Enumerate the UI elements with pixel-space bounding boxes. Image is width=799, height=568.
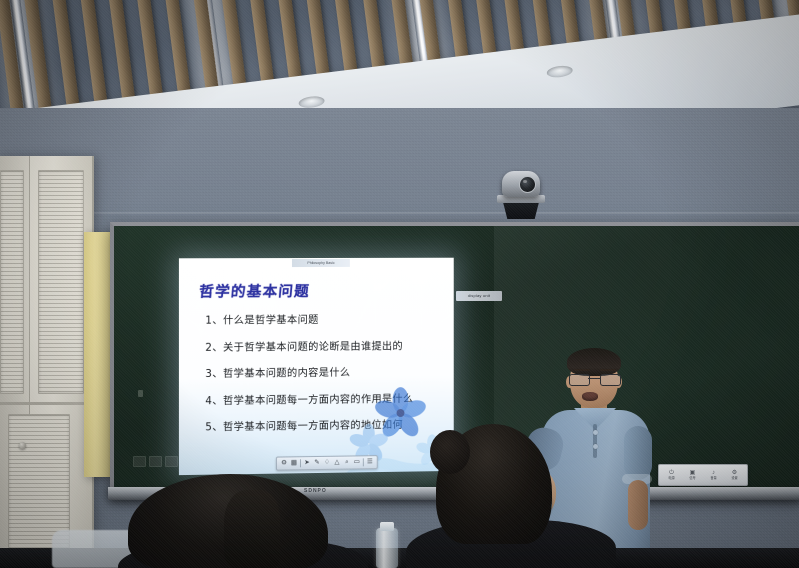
presenter-hair <box>567 348 621 376</box>
presenter-forearm <box>628 480 648 530</box>
screen-icon[interactable]: ▭ <box>353 457 361 467</box>
student-left-hair-strand <box>224 490 280 568</box>
bezel-button[interactable] <box>165 456 178 467</box>
menu-icon[interactable]: ☰ <box>366 457 374 467</box>
toolbar-separator <box>363 458 364 466</box>
slide-bullet-5: 5、哲学基本问题每一方面内容的地位如何 <box>205 415 453 433</box>
bottle-cap <box>380 522 394 531</box>
slideshow-icon[interactable]: ▦ <box>290 458 298 468</box>
volume-button[interactable]: ♪ 音量 <box>708 469 719 481</box>
eyeglasses-icon <box>569 374 619 384</box>
glasses-lens <box>600 374 621 386</box>
slide-bullet-3: 3、哲学基本问题的内容是什么 <box>205 363 453 380</box>
board-control-panel[interactable]: ⏻ 电源 ▣ 信号 ♪ 音量 ⚙ 设置 <box>658 464 748 486</box>
volume-label: 音量 <box>710 476 716 480</box>
presentation-toolbar[interactable]: ⚙ ▦ ➤ ✎ ♢ △ ⌕ ▭ ☰ <box>276 455 378 470</box>
settings-button[interactable]: ⚙ 设置 <box>729 469 740 481</box>
power-button[interactable]: ⏻ 电源 <box>666 469 677 481</box>
pointer-icon[interactable]: ➤ <box>303 458 311 468</box>
water-bottle <box>376 528 398 568</box>
glasses-bridge <box>588 378 600 379</box>
slide-title: 哲学的基本问题 <box>198 280 311 302</box>
board-bezel-buttons[interactable] <box>133 456 178 467</box>
classroom-photo: display unit ⏻ 电源 ▣ 信号 ♪ 音量 ⚙ 设置 Philoso… <box>0 0 799 568</box>
cabinet-louver-vent <box>0 170 24 394</box>
options-icon[interactable]: ⚙ <box>280 458 288 468</box>
glasses-lens <box>569 374 590 386</box>
camera-body <box>502 171 540 197</box>
student-right <box>424 424 574 568</box>
presenter-eyebrow <box>600 369 616 371</box>
ptz-conference-camera <box>497 171 545 219</box>
shirt-button <box>593 444 598 449</box>
student-right-hair-bun <box>430 430 470 474</box>
slide-bullet-1: 1、什么是哲学基本问题 <box>205 310 453 326</box>
power-label: 电源 <box>668 476 674 480</box>
board-indicator-light <box>138 390 143 397</box>
recessed-downlight <box>546 65 573 79</box>
source-label: 信号 <box>689 476 695 480</box>
source-button[interactable]: ▣ 信号 <box>687 469 698 481</box>
cabinet-louver-vent <box>38 170 84 394</box>
recessed-downlight <box>298 95 325 109</box>
shirt-button <box>593 430 598 435</box>
camera-bracket <box>503 202 539 219</box>
pen-icon[interactable]: ✎ <box>313 458 321 468</box>
slide-bullet-2: 2、关于哲学基本问题的论断是由谁提出的 <box>205 337 453 354</box>
slide-bullet-4: 4、哲学基本问题每一方面内容的作用是什么 <box>205 389 453 407</box>
cabinet-divider <box>0 402 92 405</box>
slide-header-label: Philosophy Basic <box>292 259 350 267</box>
screen-label-sticker: display unit <box>456 291 502 301</box>
presenter-mouth <box>582 392 598 401</box>
zoom-icon[interactable]: ⌕ <box>343 458 351 468</box>
bezel-button[interactable] <box>149 456 162 467</box>
slide-bullet-list: 1、什么是哲学基本问题 2、关于哲学基本问题的论断是由谁提出的 3、哲学基本问题… <box>205 310 453 445</box>
camera-lens-icon <box>519 176 536 193</box>
presenter-eyebrow <box>574 369 590 371</box>
highlighter-icon[interactable]: ♢ <box>323 458 331 468</box>
eraser-icon[interactable]: △ <box>333 458 341 468</box>
toolbar-separator <box>300 459 301 467</box>
presenter-right-arm <box>624 426 652 480</box>
projected-slide: Philosophy Basic 哲学的基本问题 1、什么是哲学基本问题 2、关… <box>179 258 454 475</box>
bezel-button[interactable] <box>133 456 146 467</box>
louvered-utility-cabinet[interactable] <box>0 156 94 568</box>
student-left <box>128 474 328 568</box>
settings-label: 设置 <box>731 476 737 480</box>
cabinet-handle[interactable] <box>19 442 26 449</box>
